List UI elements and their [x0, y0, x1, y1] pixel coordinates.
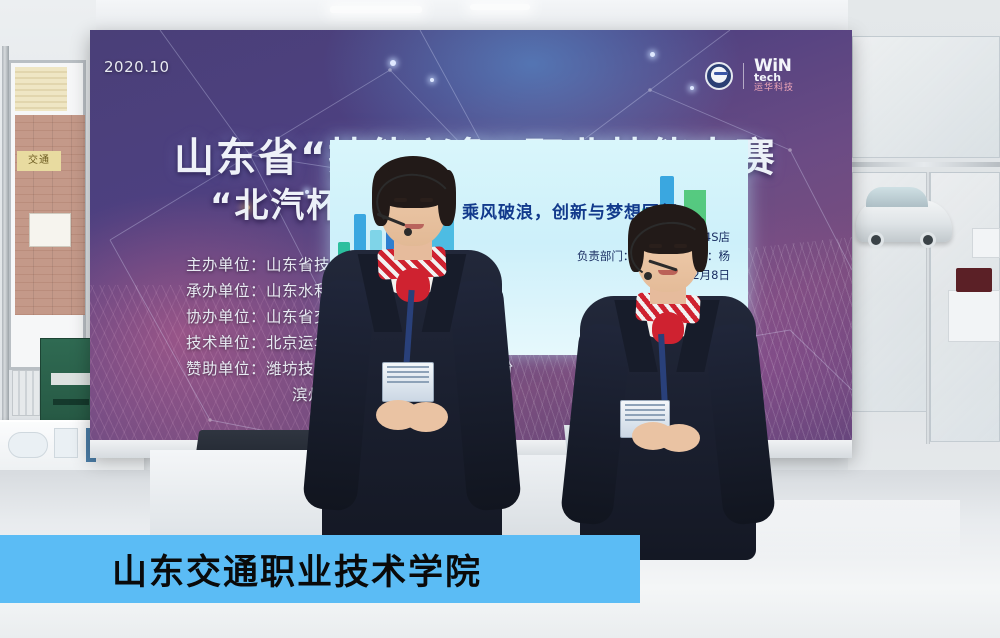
- logo-text-block: WiN tech 运华科技: [754, 58, 794, 93]
- wall-pipe: [2, 46, 9, 446]
- presenter-right: [556, 200, 776, 560]
- institution-emblem-icon: [705, 62, 733, 90]
- presenter-right-mic-tip: [644, 272, 652, 280]
- logo-brand-cn: 运华科技: [754, 84, 794, 93]
- presenter-right-scarf-knot: [652, 312, 684, 344]
- presenter-right-hand-r: [658, 424, 700, 452]
- presenter-left-hand-r: [404, 402, 448, 432]
- window-blind: [15, 67, 67, 111]
- ceiling-light-2: [470, 4, 530, 10]
- caption-text: 山东交通职业技术学院: [112, 544, 482, 595]
- showroom-equipment: [956, 268, 992, 292]
- backdrop-date: 2020.10: [104, 58, 170, 76]
- showroom-table: [948, 290, 1000, 342]
- counter-item-1: [8, 432, 48, 458]
- presenter-left-mic-tip: [404, 228, 412, 236]
- caption-bar: 山东交通职业技术学院: [0, 535, 640, 603]
- screenshot-scene: 交通: [0, 0, 1000, 638]
- ceiling-light-1: [330, 6, 422, 13]
- showroom-car: [856, 200, 952, 242]
- presenter-left: [300, 150, 520, 550]
- presenter-left-id-badge: [382, 362, 434, 402]
- glass-pane-upper: [852, 36, 1000, 158]
- car-wheel-rear: [920, 232, 936, 248]
- car-wheel-front: [868, 232, 884, 248]
- window-notice-paper: [29, 213, 71, 247]
- backdrop-light-dot-4: [690, 86, 694, 90]
- cabinet-slot: [53, 399, 89, 405]
- backdrop-light-dot-3: [650, 52, 655, 57]
- counter-item-2: [54, 428, 78, 458]
- sponsor-logo: WiN tech 运华科技: [705, 58, 794, 93]
- window-sign: 交通: [17, 151, 61, 171]
- backdrop-light-dot-1: [390, 60, 396, 66]
- glass-mullion-horizontal: [848, 162, 1000, 167]
- window-frame: 交通: [8, 60, 86, 370]
- logo-divider: [743, 63, 744, 89]
- backdrop-light-dot-2: [430, 78, 434, 82]
- showroom-frame-on-wall: [972, 228, 1000, 258]
- cabinet-label: [51, 373, 91, 385]
